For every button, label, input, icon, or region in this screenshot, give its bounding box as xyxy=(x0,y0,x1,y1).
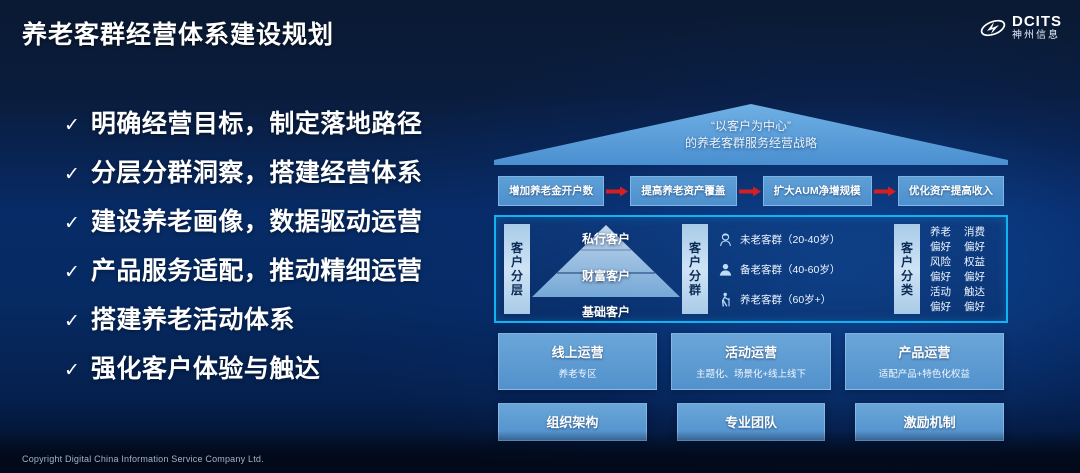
dcits-swoosh-icon xyxy=(980,17,1006,39)
operation-subtitle: 适配产品+特色化权益 xyxy=(850,366,999,380)
category-row: 风险偏好 权益偏好 xyxy=(930,254,998,284)
bullet-item: ✓ 明确经营目标，制定落地路径 xyxy=(64,104,422,140)
operation-title: 产品运营 xyxy=(850,342,999,361)
category-tab-c2: 分 xyxy=(901,269,913,283)
arrow-right-icon xyxy=(872,186,898,197)
operation-title: 活动运营 xyxy=(676,342,825,361)
bullet-text: 产品服务适配，推动精细运营 xyxy=(91,251,423,287)
goal-pill[interactable]: 增加养老金开户数 xyxy=(498,176,604,206)
goal-pill[interactable]: 提高养老资产覆盖 xyxy=(630,176,736,206)
tier-tab-c3: 层 xyxy=(511,283,523,297)
tier-level: 财富客户 xyxy=(530,267,682,284)
segmentation-panel: 客 户 分 层 xyxy=(494,215,1008,323)
tab-customer-tier[interactable]: 客 户 分 层 xyxy=(504,224,530,314)
group-tab-c0: 客 xyxy=(689,241,701,255)
foundation-card[interactable]: 专业团队 xyxy=(677,403,826,441)
check-icon: ✓ xyxy=(64,214,80,233)
operation-title: 线上运营 xyxy=(503,342,652,361)
group-label: 养老客群（60岁+） xyxy=(740,292,831,307)
check-icon: ✓ xyxy=(64,312,80,331)
tier-level: 私行客户 xyxy=(530,230,682,247)
bullet-item: ✓ 强化客户体验与触达 xyxy=(64,349,422,385)
bullet-item: ✓ 建设养老画像，数据驱动运营 xyxy=(64,202,422,238)
category-tag: 养老偏好 xyxy=(930,224,964,254)
operation-card[interactable]: 产品运营 适配产品+特色化权益 xyxy=(845,333,1004,390)
category-row: 活动偏好 触达偏好 xyxy=(930,284,998,314)
bullet-list: ✓ 明确经营目标，制定落地路径 ✓ 分层分群洞察，搭建经营体系 ✓ 建设养老画像… xyxy=(64,104,422,385)
group-tab-c1: 户 xyxy=(689,255,701,269)
check-icon: ✓ xyxy=(64,361,80,380)
young-woman-icon xyxy=(718,232,733,247)
roof-line-1: “以客户为中心” xyxy=(494,118,1008,135)
arrow-right-icon xyxy=(737,186,763,197)
arrow-right-icon xyxy=(604,186,630,197)
page-title: 养老客群经营体系建设规划 xyxy=(22,15,334,51)
group-tab-c2: 分 xyxy=(689,269,701,283)
bullet-item: ✓ 搭建养老活动体系 xyxy=(64,300,422,336)
slide-root: 养老客群经营体系建设规划 DCITS 神州信息 ✓ 明确经营目标，制定落地路径 … xyxy=(0,0,1080,473)
goal-pill[interactable]: 扩大AUM净增规模 xyxy=(763,176,872,206)
operation-subtitle: 养老专区 xyxy=(503,366,652,380)
group-label: 备老客群（40-60岁） xyxy=(740,262,840,277)
adult-person-icon xyxy=(718,262,733,277)
group-list: 未老客群（20-40岁） 备老客群（40-60岁） xyxy=(708,224,894,314)
strategy-roof: “以客户为中心” 的养老客群服务经营战略 xyxy=(494,96,1008,170)
operation-card[interactable]: 活动运营 主题化、场景化+线上线下 xyxy=(671,333,830,390)
operations-row: 线上运营 养老专区 活动运营 主题化、场景化+线上线下 产品运营 适配产品+特色… xyxy=(494,333,1008,390)
check-icon: ✓ xyxy=(64,116,80,135)
bullet-text: 明确经营目标，制定落地路径 xyxy=(91,104,423,140)
category-tag: 触达偏好 xyxy=(964,284,998,314)
category-tag: 风险偏好 xyxy=(930,254,964,284)
category-tag: 权益偏好 xyxy=(964,254,998,284)
check-icon: ✓ xyxy=(64,263,80,282)
category-tag: 消费偏好 xyxy=(964,224,998,254)
goal-pill[interactable]: 优化资产提高收入 xyxy=(898,176,1004,206)
category-tab-c3: 类 xyxy=(901,283,913,297)
category-tag: 活动偏好 xyxy=(930,284,964,314)
tier-tab-c0: 客 xyxy=(511,241,523,255)
bullet-text: 分层分群洞察，搭建经营体系 xyxy=(91,153,423,189)
tier-tab-c1: 户 xyxy=(511,255,523,269)
category-tab-c1: 户 xyxy=(901,255,913,269)
category-tab-c0: 客 xyxy=(901,241,913,255)
logo-cn-text: 神州信息 xyxy=(1012,31,1062,41)
category-row: 养老偏好 消费偏好 xyxy=(930,224,998,254)
brand-logo: DCITS 神州信息 xyxy=(980,14,1062,41)
tier-tab-c2: 分 xyxy=(511,269,523,283)
tier-pyramid: 私行客户 财富客户 基础客户 xyxy=(530,224,682,314)
tier-level: 基础客户 xyxy=(530,303,682,320)
tab-customer-category[interactable]: 客 户 分 类 xyxy=(894,224,920,314)
group-label: 未老客群（20-40岁） xyxy=(740,232,840,247)
bullet-item: ✓ 产品服务适配，推动精细运营 xyxy=(64,251,422,287)
strategy-diagram: “以客户为中心” 的养老客群服务经营战略 增加养老金开户数 提高养老资产覆盖 扩… xyxy=(494,96,1008,441)
elderly-cane-icon xyxy=(718,292,733,307)
bullet-text: 强化客户体验与触达 xyxy=(91,349,321,385)
goal-chain: 增加养老金开户数 提高养老资产覆盖 扩大AUM净增规模 优化资产提高收入 xyxy=(494,176,1008,206)
bullet-text: 建设养老画像，数据驱动运营 xyxy=(91,202,423,238)
check-icon: ✓ xyxy=(64,165,80,184)
roof-line-2: 的养老客群服务经营战略 xyxy=(494,135,1008,152)
category-grid: 养老偏好 消费偏好 风险偏好 权益偏好 活动偏好 触达偏好 xyxy=(920,224,998,314)
foundation-row: 组织架构 专业团队 激励机制 xyxy=(494,403,1008,441)
group-tab-c3: 群 xyxy=(689,283,701,297)
group-row: 养老客群（60岁+） xyxy=(718,292,894,307)
foundation-card[interactable]: 组织架构 xyxy=(498,403,647,441)
operation-subtitle: 主题化、场景化+线上线下 xyxy=(676,366,825,380)
operation-card[interactable]: 线上运营 养老专区 xyxy=(498,333,657,390)
foundation-card[interactable]: 激励机制 xyxy=(855,403,1004,441)
group-row: 备老客群（40-60岁） xyxy=(718,262,894,277)
group-row: 未老客群（20-40岁） xyxy=(718,232,894,247)
bullet-text: 搭建养老活动体系 xyxy=(91,300,295,336)
bullet-item: ✓ 分层分群洞察，搭建经营体系 xyxy=(64,153,422,189)
logo-en-text: DCITS xyxy=(1012,14,1062,29)
copyright-footer: Copyright Digital China Information Serv… xyxy=(22,454,264,464)
tab-customer-group[interactable]: 客 户 分 群 xyxy=(682,224,708,314)
